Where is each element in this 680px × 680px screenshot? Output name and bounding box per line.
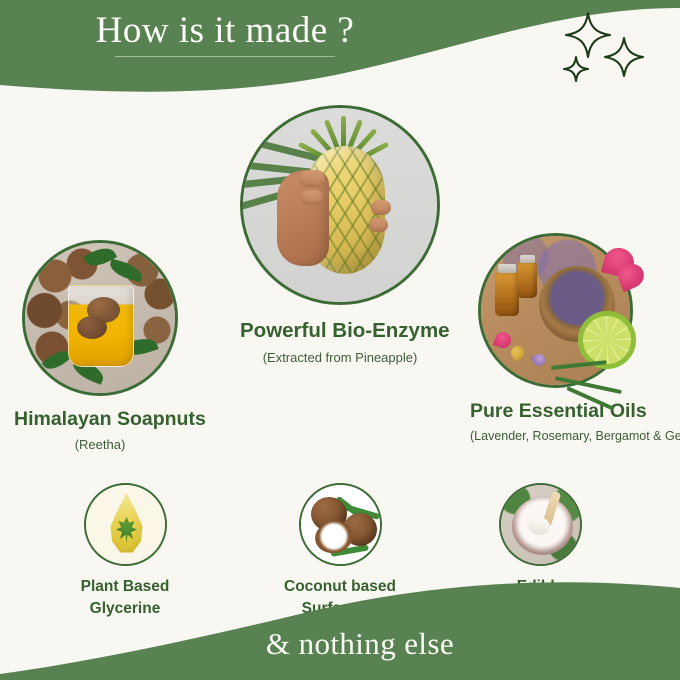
essential-oils-sublabel: (Lavender, Rosemary, Bergamot & Geranium… — [470, 429, 640, 445]
soapnuts-and-glass-photo — [22, 240, 178, 396]
page-title-wrap: How is it made ? — [60, 8, 390, 57]
ingredient-bio-enzyme: Powerful Bio-Enzyme (Extracted from Pine… — [240, 105, 440, 366]
glycerine-droplet-icon — [84, 483, 167, 566]
title-underline — [115, 56, 335, 57]
coconut-photo — [299, 483, 382, 566]
bio-enzyme-sublabel: (Extracted from Pineapple) — [240, 350, 440, 366]
bio-enzyme-label: Powerful Bio-Enzyme — [240, 319, 440, 344]
infographic-canvas: How is it made ? — [0, 0, 680, 680]
ingredient-pure-essential-oils: Pure Essential Oils (Lavender, Rosemary,… — [470, 233, 640, 445]
sparkles-icon — [555, 10, 655, 90]
essential-oils-bowl-photo — [478, 233, 633, 388]
pineapple-in-hand-photo — [240, 105, 440, 305]
bottom-banner — [0, 570, 680, 680]
ingredient-himalayan-soapnuts: Himalayan Soapnuts (Reetha) — [14, 240, 186, 454]
page-title: How is it made ? — [60, 8, 390, 53]
soapnuts-label: Himalayan Soapnuts — [14, 408, 186, 431]
footer-tagline: & nothing else — [0, 626, 680, 662]
edible-gum-bowl-photo — [499, 483, 582, 566]
soapnuts-sublabel: (Reetha) — [14, 437, 186, 453]
essential-oils-label: Pure Essential Oils — [470, 400, 640, 423]
